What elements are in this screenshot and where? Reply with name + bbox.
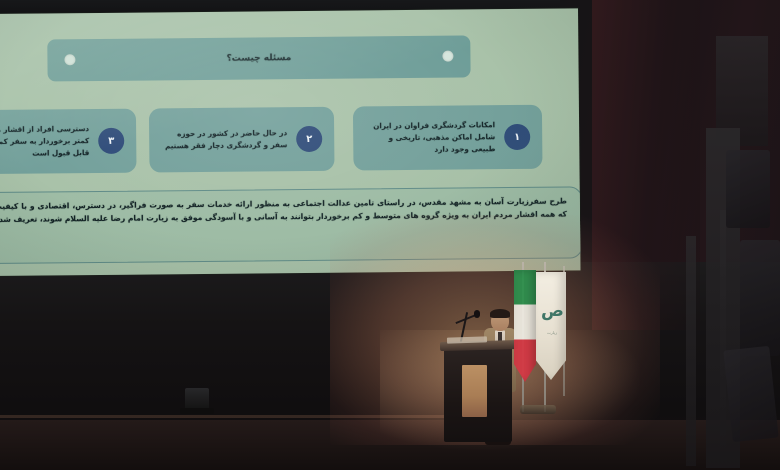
auditorium-scene: مسئله چیست؟ ۱ امکانات گردشگری فراوان در …: [0, 0, 780, 470]
flag-stand-base: [520, 405, 556, 414]
organization-flag: [536, 272, 566, 380]
podium-front-panel: [462, 365, 487, 417]
iran-flag: [514, 270, 536, 382]
slide-numbered-boxes: ۱ امکانات گردشگری فراوان در ایران شامل ا…: [0, 105, 534, 179]
stage-speaker-box-lower: [723, 346, 778, 442]
numbered-box-2: ۲ در حال حاضر در کشور در حوزه سفر و گردش…: [149, 107, 335, 173]
organization-flag-caption: زیارت: [541, 330, 563, 338]
podium: [444, 347, 512, 442]
speaker-hair: [490, 309, 510, 318]
stage-monitor-base: [180, 408, 214, 414]
organization-flag-logo-icon: ص: [541, 300, 561, 322]
number-badge-3: ۳: [98, 128, 124, 154]
numbered-box-3-text: دسترسی افراد از اقشار متوسط و کمتر برخور…: [0, 123, 94, 160]
stage-floor-front: [0, 420, 780, 470]
stage-speaker-box-middle: [740, 240, 780, 356]
slide-paragraph-text: طرح سفرزیارت آسان به مشهد مقدس، در راستا…: [0, 194, 567, 226]
title-bullet-left-icon: [64, 54, 75, 65]
slide-title: مسئله چیست؟: [227, 53, 292, 64]
stage-monitor: [185, 388, 209, 410]
slide-title-bar: مسئله چیست؟: [47, 35, 470, 81]
number-badge-1: ۱: [504, 124, 530, 150]
numbered-box-2-text: در حال حاضر در کشور در حوزه سفر و گردشگر…: [157, 127, 292, 152]
numbered-box-3: ۳ دسترسی افراد از اقشار متوسط و کمتر برخ…: [0, 109, 137, 175]
title-bullet-right-icon: [442, 51, 453, 62]
numbered-box-1-text: امکانات گردشگری فراوان در ایران شامل اما…: [361, 119, 500, 156]
lighting-rig-pole-b: [720, 210, 726, 460]
stage-curtain: [592, 0, 700, 330]
number-badge-2: ۲: [296, 126, 322, 152]
numbered-box-1: ۱ امکانات گردشگری فراوان در ایران شامل ا…: [353, 105, 543, 171]
stage-floor-edge: [0, 415, 470, 418]
projection-screen: مسئله چیست؟ ۱ امکانات گردشگری فراوان در …: [0, 8, 580, 276]
stage-speaker-box-upper: [726, 150, 770, 228]
slide-paragraph-card: طرح سفرزیارت آسان به مشهد مقدس، در راستا…: [0, 186, 580, 264]
microphone-head-icon: [474, 310, 480, 318]
lighting-rig-pole-a: [686, 236, 696, 466]
